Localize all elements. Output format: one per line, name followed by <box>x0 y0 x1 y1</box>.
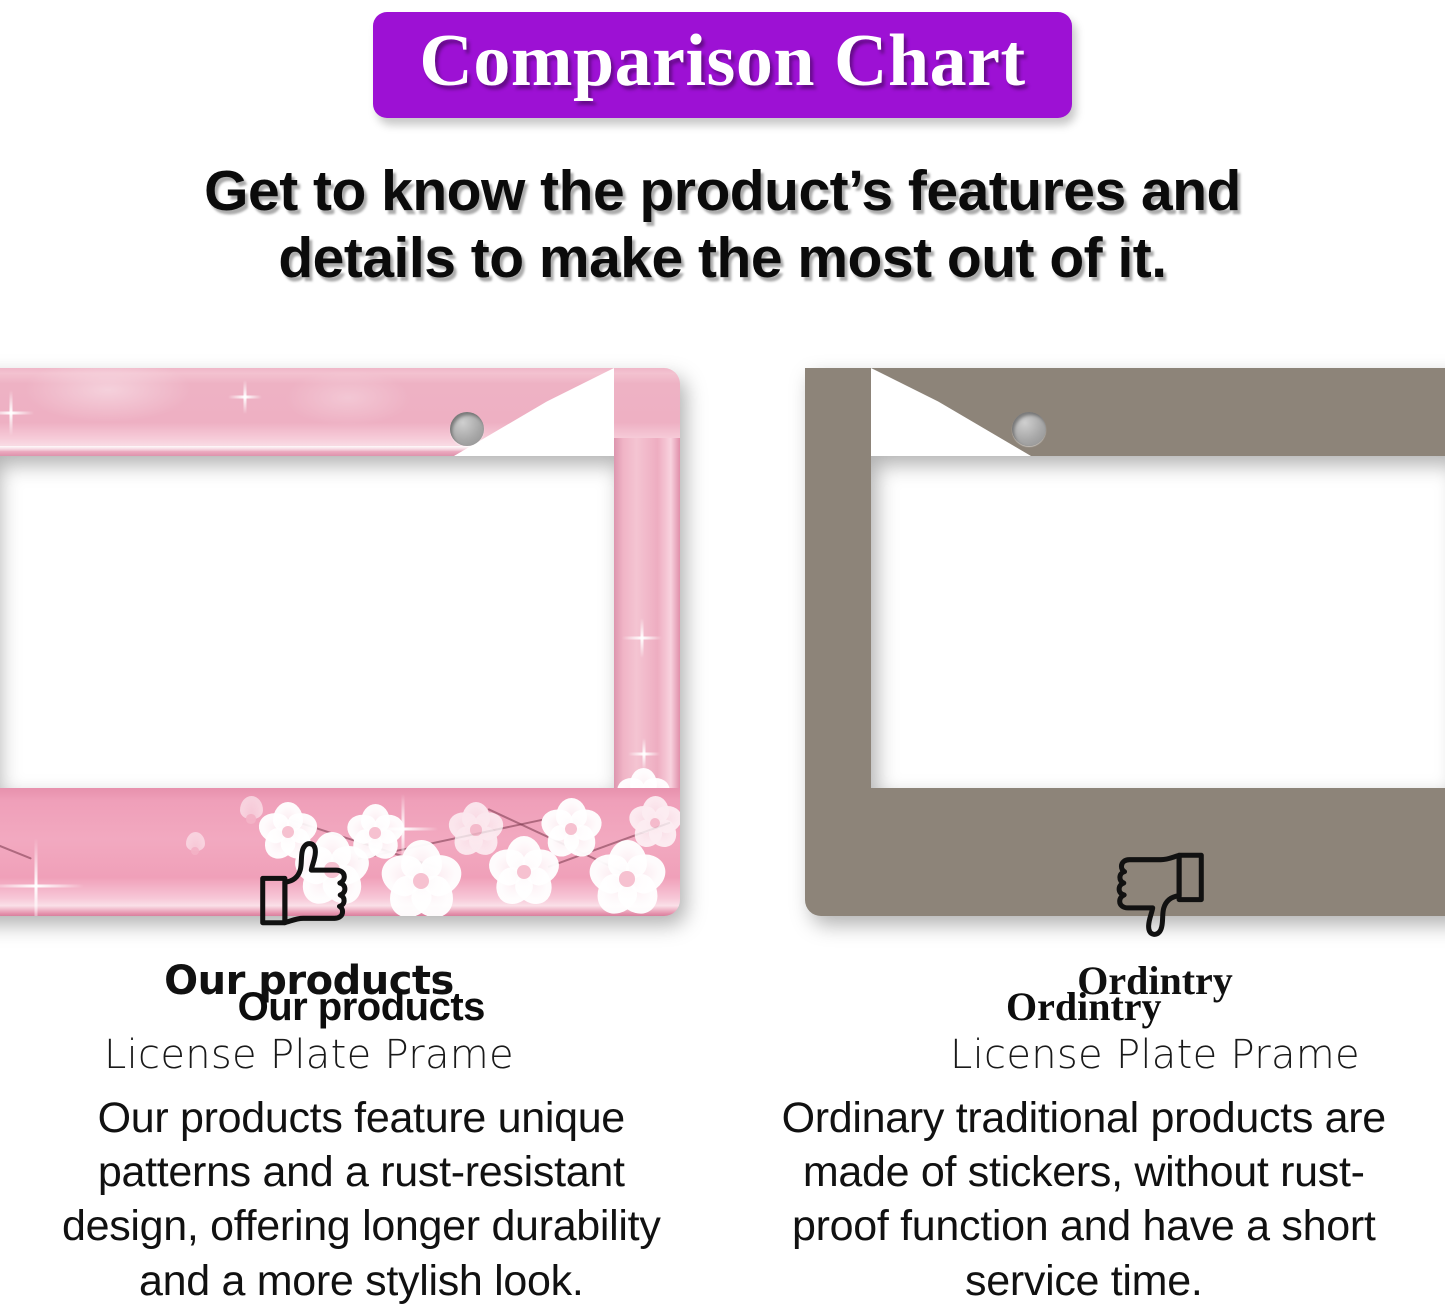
pink-frame-right-rail <box>614 438 680 806</box>
sparkle-icon <box>622 618 662 658</box>
title-banner-wrapper: Comparison Chart <box>0 12 1445 118</box>
thumbs-up-icon <box>250 835 368 943</box>
mounting-hole <box>450 412 484 446</box>
rusty-license-plate-frame-image <box>805 368 1445 916</box>
left-column-description: Our products feature unique patterns and… <box>42 1091 681 1308</box>
comparison-chart-banner: Comparison Chart <box>373 12 1071 118</box>
rusty-frame-left-rail <box>805 438 871 806</box>
left-column-heading: Our products <box>42 985 681 1029</box>
subtitle-line-1: Get to know the product’s features and <box>204 159 1241 223</box>
thumbs-down-icon <box>1096 835 1214 943</box>
page-subtitle: Get to know the product’s features and d… <box>0 158 1445 293</box>
pink-license-plate-frame-image <box>0 368 680 916</box>
page-title: Comparison Chart <box>419 16 1025 106</box>
subtitle-line-2: details to make the most out of it. <box>60 225 1385 292</box>
right-column-description: Ordinary traditional products are made o… <box>765 1091 1404 1308</box>
sparkle-icon <box>628 738 660 770</box>
mounting-hole <box>1012 412 1046 446</box>
sakura-flower-icon <box>628 796 680 850</box>
rust-texture <box>805 438 871 806</box>
left-comparison-column: Our products Our products feature unique… <box>0 985 723 1308</box>
comparison-details: Our products Our products feature unique… <box>0 985 1445 1308</box>
right-column-heading: Ordintry <box>765 985 1404 1029</box>
product-frames-area: Our products License Plate Prame Ordintr… <box>0 355 1445 935</box>
right-comparison-column: Ordintry Ordinary traditional products a… <box>723 985 1445 1308</box>
sparkle-icon <box>0 390 34 436</box>
sparkle-icon <box>228 380 262 414</box>
